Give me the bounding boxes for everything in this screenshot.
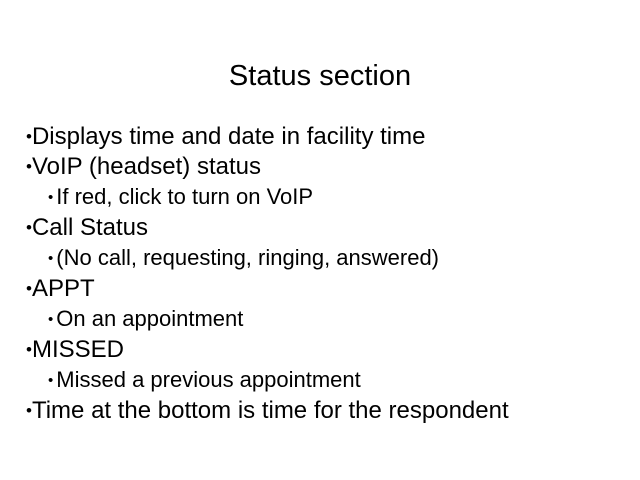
bullet-item: •Time at the bottom is time for the resp… bbox=[26, 396, 626, 426]
bullet-item: •MISSED bbox=[26, 335, 626, 365]
bullet-item-label: VoIP (headset) status bbox=[32, 153, 261, 180]
bullet-item: •APPT bbox=[26, 274, 626, 304]
bullet-item-label: (No call, requesting, ringing, answered) bbox=[56, 245, 439, 270]
bullet-item-label: If red, click to turn on VoIP bbox=[56, 184, 313, 209]
bullet-item: •Missed a previous appointment bbox=[26, 365, 626, 396]
bullet-item-label: Displays time and date in facility time bbox=[32, 123, 426, 150]
page-title: Status section bbox=[0, 59, 640, 93]
bullet-item-label: On an appointment bbox=[56, 306, 243, 331]
bullet-list: •Displays time and date in facility time… bbox=[26, 122, 626, 426]
bullet-item: •VoIP (headset) status bbox=[26, 152, 626, 182]
bullet-item-label: APPT bbox=[32, 275, 95, 302]
bullet-item-label: Missed a previous appointment bbox=[56, 367, 361, 392]
bullet-item: •Call Status bbox=[26, 213, 626, 243]
bullet-item-label: Time at the bottom is time for the respo… bbox=[32, 397, 509, 424]
bullet-item: •Displays time and date in facility time bbox=[26, 122, 626, 152]
slide-canvas: Status section •Displays time and date i… bbox=[0, 0, 640, 480]
bullet-item: •If red, click to turn on VoIP bbox=[26, 182, 626, 213]
bullet-item-label: Call Status bbox=[32, 214, 148, 241]
bullet-item: •On an appointment bbox=[26, 304, 626, 335]
bullet-item-label: MISSED bbox=[32, 336, 124, 363]
bullet-item: •(No call, requesting, ringing, answered… bbox=[26, 243, 626, 274]
